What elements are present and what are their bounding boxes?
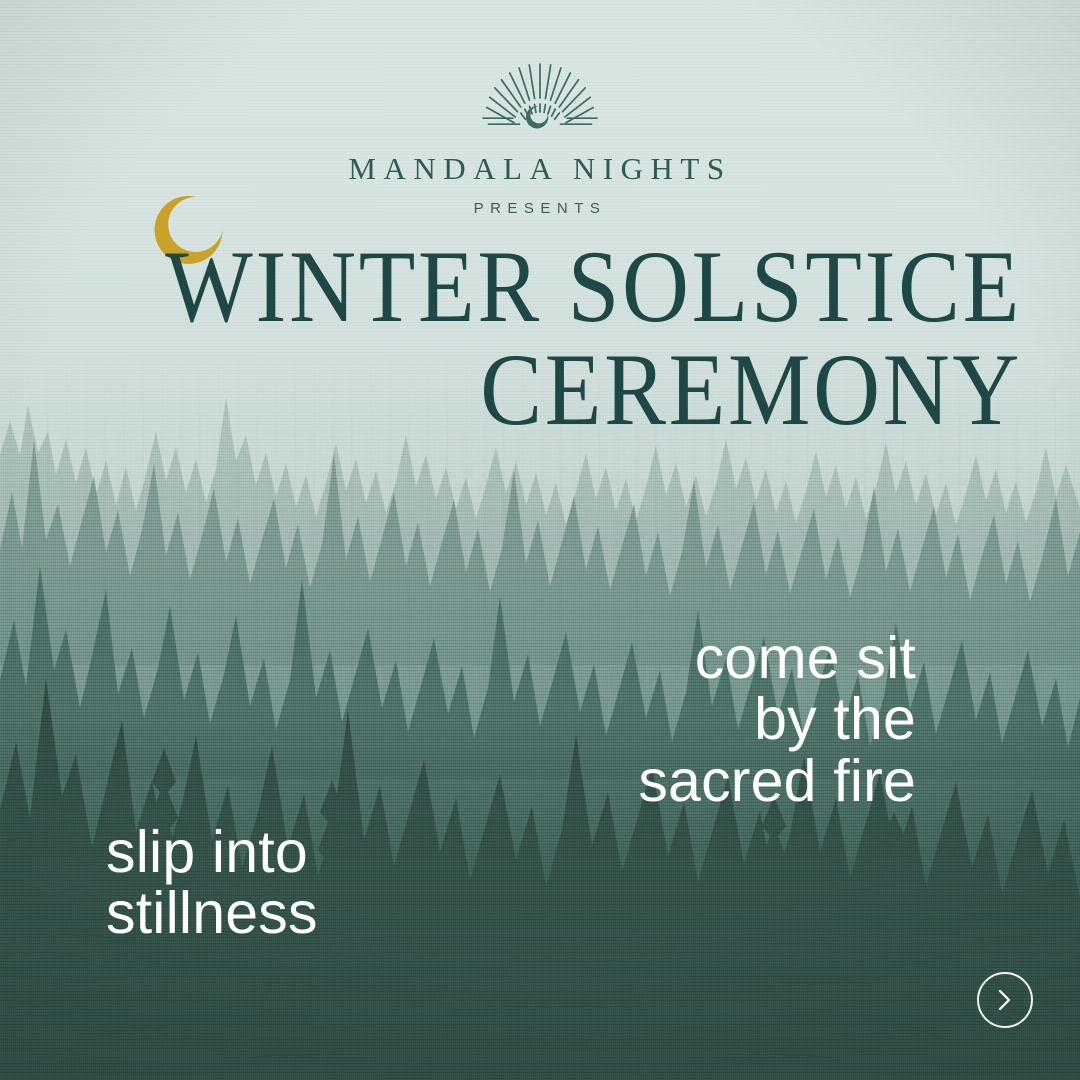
brand-presents-label: PRESENTS: [474, 200, 607, 217]
headline-line-1: WINTER SOLSTICE: [138, 238, 1022, 337]
sunburst-crescent-moon-icon: [471, 56, 609, 134]
poster-content: MANDALA NIGHTS PRESENTS WINTER SOLSTICE …: [0, 0, 1080, 1080]
tagline-left-line-2: stillness: [106, 883, 318, 944]
tagline-right-line-2: by the: [638, 689, 916, 750]
tagline-left: slip into stillness: [106, 822, 318, 945]
page-title: WINTER SOLSTICE CEREMONY: [40, 238, 1022, 440]
next-button[interactable]: [977, 972, 1033, 1028]
brand-name: MANDALA NIGHTS: [348, 151, 731, 187]
tagline-right: come sit by the sacred fire: [638, 628, 916, 812]
headline-line-2: CEREMONY: [138, 341, 1022, 440]
tagline-right-line-1: come sit: [638, 628, 916, 689]
tagline-left-line-1: slip into: [106, 822, 318, 883]
poster-canvas: MANDALA NIGHTS PRESENTS WINTER SOLSTICE …: [0, 0, 1080, 1080]
chevron-right-icon: [995, 987, 1015, 1013]
tagline-right-line-3: sacred fire: [638, 751, 916, 812]
